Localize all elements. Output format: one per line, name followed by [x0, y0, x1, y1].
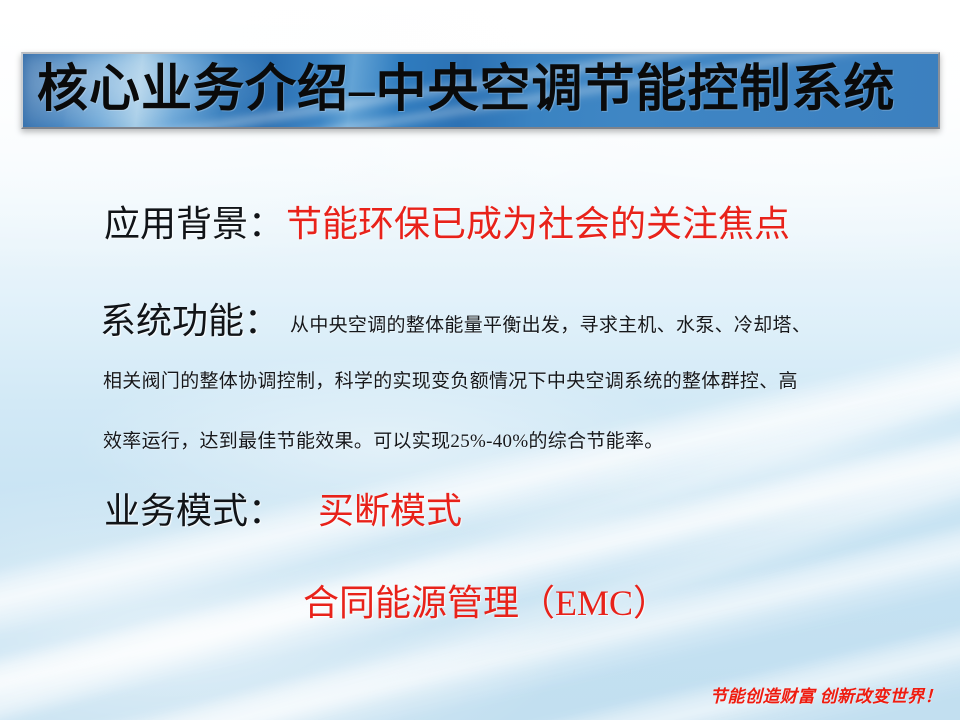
system-function-label: 系统功能： — [100, 303, 280, 339]
application-background-value: 节能环保已成为社会的关注焦点 — [286, 206, 790, 242]
business-mode-option-buyout: 买断模式 — [318, 493, 462, 529]
system-function-line-3: 效率运行，达到最佳节能效果。可以实现25%-40%的综合节能率。 — [103, 432, 664, 451]
section-business-mode: 业务模式： 买断模式 — [104, 493, 462, 529]
application-background-label: 应用背景： — [104, 206, 284, 242]
section-system-function: 系统功能： 从中央空调的整体能量平衡出发，寻求主机、水泵、冷却塔、 — [100, 303, 811, 339]
slide-canvas: 核心业务介绍–中央空调节能控制系统 应用背景： 节能环保已成为社会的关注焦点 系… — [0, 0, 960, 720]
business-mode-option-emc: 合同能源管理（EMC） — [303, 585, 669, 621]
slide-title-banner: 核心业务介绍–中央空调节能控制系统 — [21, 52, 940, 129]
footer-slogan: 节能创造财富 创新改变世界！ — [710, 688, 942, 705]
system-function-line-1: 从中央空调的整体能量平衡出发，寻求主机、水泵、冷却塔、 — [290, 316, 811, 335]
business-mode-label: 业务模式： — [104, 493, 284, 529]
page-title: 核心业务介绍–中央空调节能控制系统 — [23, 65, 896, 116]
system-function-line-2: 相关阀门的整体协调控制，科学的实现变负额情况下中央空调系统的整体群控、高 — [103, 372, 798, 391]
section-application-background: 应用背景： 节能环保已成为社会的关注焦点 — [104, 206, 790, 242]
